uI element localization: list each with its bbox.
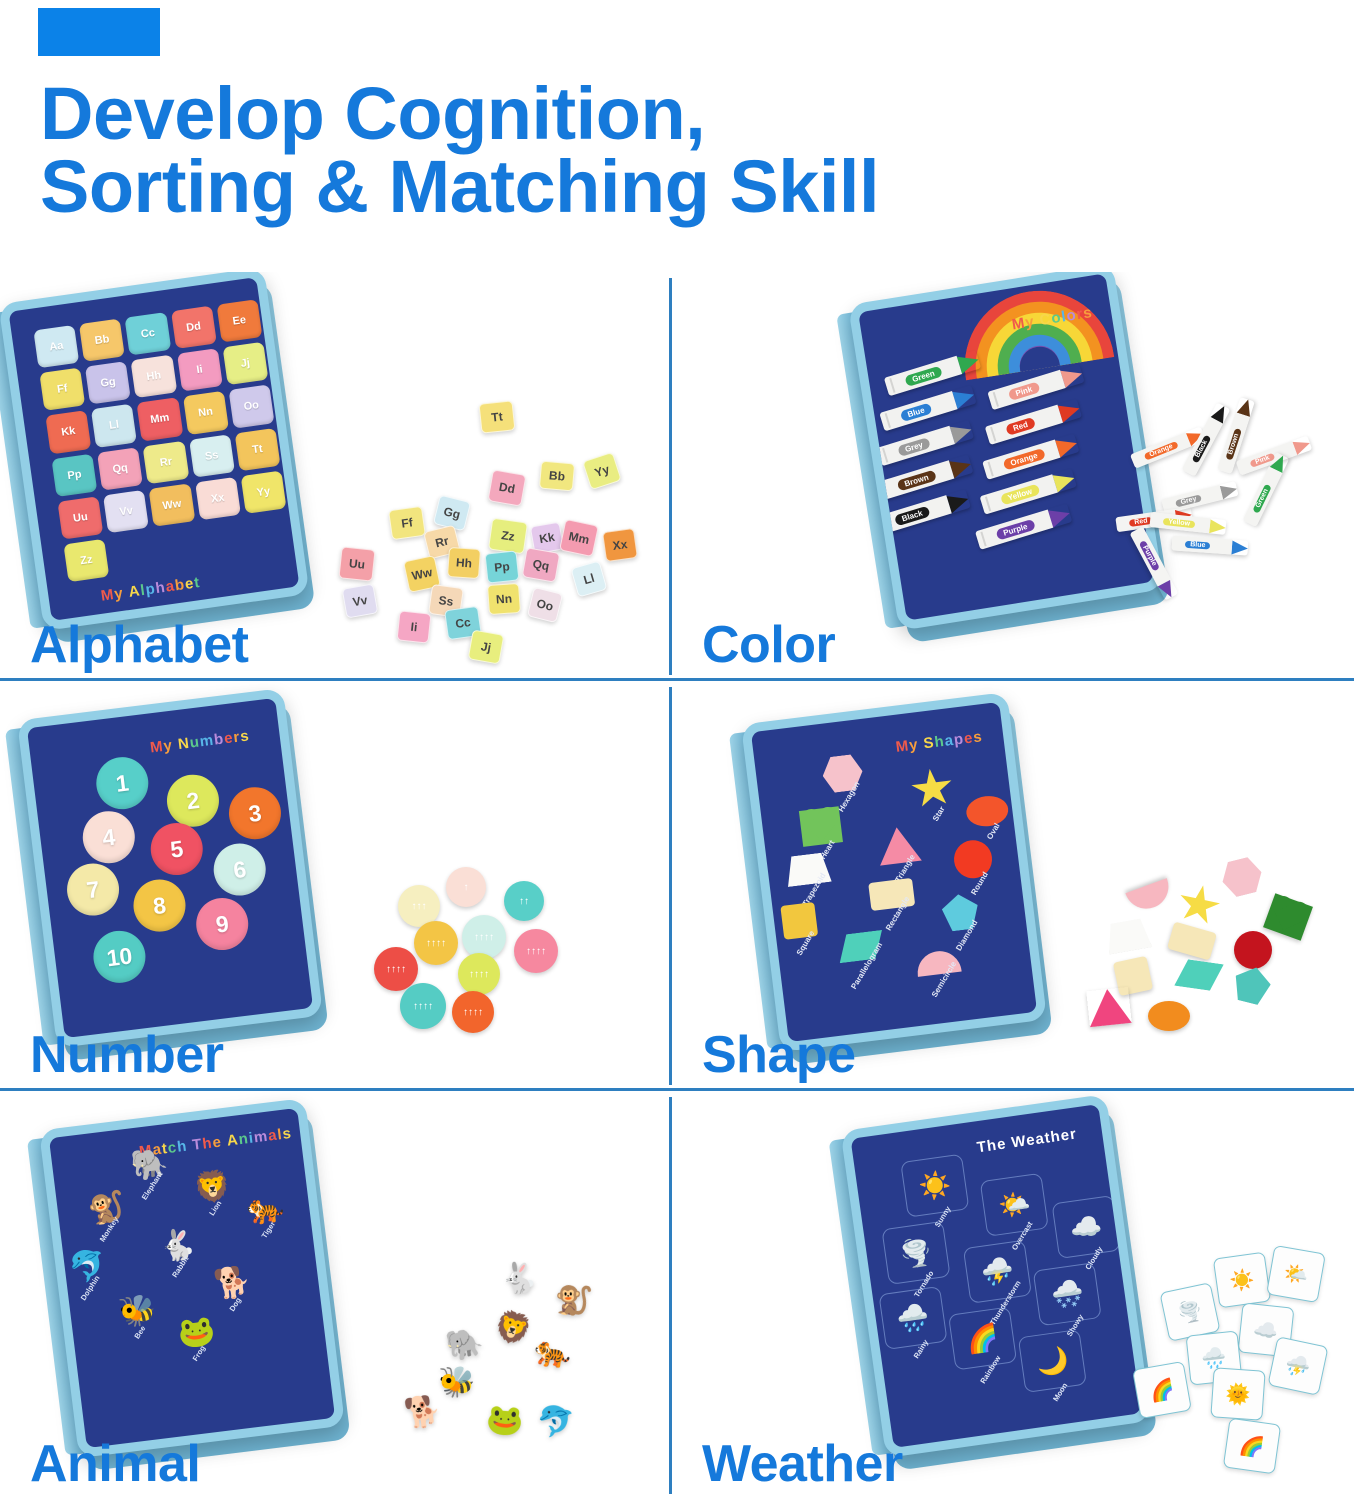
alphabet-tile[interactable]: Tt [234, 427, 280, 471]
number-token[interactable]: ↑↑↑↑ [414, 921, 458, 965]
alphabet-book-title: My Alphabet [100, 574, 202, 605]
loose-animal-frog[interactable]: 🐸 [485, 1402, 525, 1440]
weather-icon-overcast[interactable]: 🌤️ [996, 1187, 1032, 1222]
animal-slot: 🐸Frog [176, 1316, 218, 1360]
animal-slot: 🐒Monkey [86, 1192, 128, 1236]
book-cover: My Shapes HexagonStarHeartOvalTrapezoidT… [741, 692, 1047, 1052]
shape-slot: Diamond [940, 892, 980, 932]
weather-loose-card[interactable]: 🌈 [1223, 1418, 1281, 1475]
weather-icon-tornado[interactable]: 🌪️ [898, 1235, 934, 1270]
animal-slot: 🐕Dog [212, 1267, 254, 1311]
number-dot-7[interactable]: 7 [64, 861, 122, 919]
book-cover: AaBbCcDdEeFfGgHhIiJjKkLlMmNnOoPpQqRrSsTt… [0, 272, 310, 631]
alphabet-tile[interactable]: Ll [91, 404, 137, 448]
headline-line-1: Develop Cognition, [40, 78, 1220, 151]
weather-loose-card[interactable]: ⛈️ [1267, 1336, 1328, 1396]
shape-slot: Parallelogram [836, 930, 885, 963]
weather-loose-card[interactable]: 🌞 [1210, 1367, 1265, 1421]
alphabet-tile-grid: AaBbCcDdEeFfGgHhIiJjKkLlMmNnOoPpQqRrSsTt… [33, 299, 292, 582]
weather-loose-card[interactable]: ☀️ [1213, 1252, 1271, 1309]
category-label-alphabet: Alphabet [30, 615, 248, 675]
alphabet-tile[interactable]: Jj [222, 342, 268, 386]
weather-icon-cloudy[interactable]: ☁️ [1068, 1209, 1104, 1244]
alphabet-tile[interactable]: Zz [63, 539, 109, 583]
shape-slot-grid: HexagonStarHeartOvalTrapezoidTriangleRou… [751, 702, 999, 732]
alphabet-tile[interactable] [246, 513, 292, 557]
loose-shape-diam[interactable] [1230, 963, 1274, 1007]
weather-icon-moon[interactable]: 🌙 [1034, 1343, 1070, 1378]
alphabet-tile[interactable] [201, 519, 247, 563]
loose-shape-rect[interactable] [1167, 921, 1217, 960]
weather-icon-rainbow[interactable]: 🌈 [964, 1321, 1000, 1356]
headline-line-2: Sorting & Matching Skill [40, 151, 1220, 224]
number-dot-3[interactable]: 3 [226, 784, 284, 842]
loose-shape-trap[interactable] [1104, 917, 1153, 954]
panel-weather: The Weather ☀️Sunny🌤️Overcast☁️Cloudy🌪️T… [672, 1091, 1354, 1500]
alphabet-loose-tile[interactable]: Qq [522, 547, 561, 582]
animal-slot: 🐅Tiger [246, 1192, 288, 1236]
shape-slot: Triangle [876, 825, 922, 866]
alphabet-tile[interactable]: Ii [177, 348, 223, 392]
animal-loose-pieces[interactable]: 🐇🐒🦁🐘🐅🐝🐕🐸🐬 [390, 1255, 620, 1465]
number-book[interactable]: My Numbers 12345678910 [17, 688, 323, 1048]
color-loose-crayons[interactable]: OrangeBlackBrownPinkGreyGreenRedYellowBl… [1120, 410, 1340, 620]
loose-shape-oval[interactable] [1148, 1001, 1190, 1031]
number-token[interactable]: ↑ [446, 867, 486, 907]
panel-alphabet: AaBbCcDdEeFfGgHhIiJjKkLlMmNnOoPpQqRrSsTt… [0, 272, 672, 681]
number-token[interactable]: ↑↑↑↑ [514, 929, 558, 973]
loose-shape-circ[interactable] [1234, 931, 1272, 969]
number-dot-1[interactable]: 1 [93, 754, 151, 812]
weather-icon-rainy[interactable]: 🌧️ [895, 1300, 931, 1335]
shape-figure-heart[interactable] [799, 806, 843, 847]
loose-shape-semi[interactable] [1125, 878, 1174, 915]
feature-grid: AaBbCcDdEeFfGgHhIiJjKkLlMmNnOoPpQqRrSsTt… [0, 272, 1354, 1500]
alphabet-tile[interactable]: Dd [171, 306, 217, 350]
alphabet-loose-tile[interactable]: Nn [487, 583, 521, 615]
weather-slot-rainy[interactable]: 🌧️Rainy [878, 1286, 947, 1350]
header: Develop Cognition, Sorting & Matching Sk… [0, 0, 1354, 272]
shape-figure-star[interactable] [909, 766, 956, 811]
weather-slot-showy[interactable]: 🌨️Showy [1033, 1262, 1102, 1326]
loose-shape-para[interactable] [1174, 958, 1223, 992]
loose-shape-hex[interactable] [1218, 855, 1266, 900]
weather-label: Rainy [912, 1338, 930, 1360]
panel-number: My Numbers 12345678910 ↑↑↑↑↑↑↑↑↑↑↑↑↑↑↑↑↑… [0, 681, 672, 1091]
alphabet-tile[interactable]: Aa [33, 325, 79, 369]
alphabet-loose-tile[interactable]: Yy [582, 452, 622, 490]
book-cover: Match The Animals 🐘Elephant🦁Lion🐒Monkey🐅… [39, 1098, 345, 1458]
alphabet-loose-tile[interactable]: Jj [468, 629, 505, 664]
shape-book[interactable]: My Shapes HexagonStarHeartOvalTrapezoidT… [741, 692, 1047, 1052]
alphabet-tile[interactable]: Qq [97, 447, 143, 491]
animal-icon-dog[interactable]: 🐕 [212, 1267, 253, 1301]
loose-shape-star[interactable] [1174, 881, 1223, 929]
book-cover: My Colors GreenBlueGreyBrownBlackPinkRed… [848, 272, 1164, 631]
loose-shape-heart[interactable] [1263, 893, 1313, 941]
book-cover: The Weather ☀️Sunny🌤️Overcast☁️Cloudy🌪️T… [840, 1094, 1151, 1458]
alphabet-tile[interactable]: Ww [149, 483, 195, 527]
weather-slot-rainbow[interactable]: 🌈Rainbow [948, 1306, 1017, 1370]
number-dot-grid: 12345678910 [27, 698, 275, 728]
alphabet-loose-tile[interactable]: Pp [485, 550, 520, 583]
animal-icon-tiger[interactable]: 🐅 [246, 1192, 287, 1226]
number-token[interactable]: ↑↑↑↑ [374, 947, 418, 991]
animal-slot: 🐝Bee [117, 1295, 159, 1339]
animal-icon-rabbit[interactable]: 🐇 [157, 1229, 198, 1263]
shape-figure-rectangle[interactable] [868, 878, 915, 911]
category-label-number: Number [30, 1025, 223, 1085]
shape-label: Star [931, 805, 947, 823]
weather-book[interactable]: The Weather ☀️Sunny🌤️Overcast☁️Cloudy🌪️T… [840, 1094, 1151, 1458]
animal-slot: 🐬Dolphin [67, 1250, 109, 1294]
alphabet-tile[interactable]: Hh [131, 355, 177, 399]
loose-crayon-yellow[interactable]: Yellow [1149, 512, 1226, 535]
alphabet-loose-tile[interactable]: Oo [527, 587, 563, 623]
shape-slot: Oval [965, 794, 1010, 829]
loose-animal-lion[interactable]: 🦁 [490, 1306, 536, 1351]
shape-figure-trapezoid[interactable] [784, 852, 831, 887]
weather-loose-card[interactable]: 🌈 [1132, 1361, 1192, 1419]
animal-icon-elephant[interactable]: 🐘 [129, 1148, 170, 1182]
alphabet-tile[interactable]: Cc [125, 312, 171, 356]
accent-square [38, 8, 160, 56]
crayon-tip [1209, 519, 1226, 535]
animal-book[interactable]: Match The Animals 🐘Elephant🦁Lion🐒Monkey🐅… [39, 1098, 345, 1458]
alphabet-tile[interactable]: Uu [57, 496, 103, 540]
loose-crayon-purple[interactable]: Purple [1130, 526, 1179, 600]
alphabet-tile[interactable]: Xx [195, 477, 241, 521]
animal-slot: 🐘Elephant [129, 1148, 171, 1192]
number-token[interactable]: ↑↑↑↑ [400, 983, 446, 1029]
panel-animal: Match The Animals 🐘Elephant🦁Lion🐒Monkey🐅… [0, 1091, 672, 1500]
alphabet-tile[interactable]: Rr [143, 440, 189, 484]
shape-figure-oval[interactable] [965, 794, 1010, 829]
alphabet-tile[interactable]: Kk [45, 410, 91, 454]
loose-animal-elephant[interactable]: 🐘 [443, 1323, 487, 1365]
animal-icon-bee[interactable]: 🐝 [117, 1295, 158, 1329]
weather-icon-showy[interactable]: 🌨️ [1049, 1277, 1085, 1312]
weather-slot-thunderstorm[interactable]: ⛈️Thunderstorm [963, 1240, 1032, 1304]
category-label-weather: Weather [702, 1434, 903, 1494]
weather-loose-card[interactable]: 🌤️ [1266, 1245, 1326, 1303]
alphabet-tile[interactable]: Oo [228, 385, 274, 429]
alphabet-tile[interactable] [109, 532, 155, 576]
number-token[interactable]: ↑↑ [504, 881, 544, 921]
weather-label: Moon [1051, 1381, 1069, 1403]
weather-slot-cloudy[interactable]: ☁️Cloudy [1051, 1195, 1120, 1259]
alphabet-tile[interactable] [155, 526, 201, 570]
alphabet-loose-tile[interactable]: Bb [539, 461, 575, 492]
weather-slot-moon[interactable]: 🌙Moon [1018, 1329, 1087, 1393]
alphabet-loose-tile[interactable]: Uu [338, 546, 375, 581]
shape-slot: Star [909, 766, 956, 811]
category-label-color: Color [702, 615, 835, 675]
shape-slot: Round [952, 838, 994, 880]
alphabet-tile[interactable]: Ss [189, 434, 235, 478]
alphabet-tile[interactable]: Mm [137, 398, 183, 442]
alphabet-loose-tile[interactable]: Zz [488, 518, 528, 555]
loose-shape-tri[interactable] [1086, 987, 1132, 1027]
weather-slot-sunny[interactable]: ☀️Sunny [900, 1154, 969, 1218]
shape-slot: Trapezoid [784, 852, 831, 887]
alphabet-loose-tiles[interactable]: TtBbYyDdFfGgRrZzKkMmXxUuWwHhPpQqLlVvSsNn… [318, 400, 648, 670]
number-dot-5[interactable]: 5 [148, 820, 206, 878]
alphabet-tile[interactable]: Ee [216, 299, 262, 343]
shape-loose-pieces[interactable] [1082, 849, 1312, 1059]
alphabet-loose-tile[interactable]: Ii [397, 610, 432, 643]
animal-slot: 🦁Lion [192, 1171, 234, 1215]
animal-icon-frog[interactable]: 🐸 [176, 1316, 217, 1350]
number-dot-6[interactable]: 6 [211, 841, 269, 899]
loose-animal-dog[interactable]: 🐕 [402, 1393, 443, 1432]
alphabet-loose-tile[interactable]: Xx [602, 528, 638, 562]
animal-slot: 🐇Rabbit [157, 1229, 199, 1273]
alphabet-tile[interactable]: Ff [39, 368, 85, 412]
shape-slot: Hexagon [821, 753, 865, 794]
number-token[interactable]: ↑↑↑↑ [462, 915, 506, 959]
weather-book-title: The Weather [976, 1125, 1078, 1156]
weather-slot-tornado[interactable]: 🌪️Tornado [881, 1221, 950, 1285]
loose-animal-bee[interactable]: 🐝 [438, 1365, 475, 1400]
shape-slot: Square [780, 902, 818, 940]
number-loose-tokens[interactable]: ↑↑↑↑↑↑↑↑↑↑↑↑↑↑↑↑↑↑↑↑↑↑↑↑↑↑↑↑↑↑↑↑↑↑ [358, 859, 578, 1059]
panel-color: My Colors GreenBlueGreyBrownBlackPinkRed… [672, 272, 1354, 681]
alphabet-book[interactable]: AaBbCcDdEeFfGgHhIiJjKkLlMmNnOoPpQqRrSsTt… [0, 272, 310, 631]
number-dot-2[interactable]: 2 [164, 772, 222, 830]
alphabet-loose-tile[interactable]: Ff [388, 506, 426, 540]
number-dot-10[interactable]: 10 [90, 928, 148, 986]
shape-slot: Rectangle [868, 878, 915, 911]
shape-slot: Heart [799, 806, 843, 847]
weather-loose-cards[interactable]: ☀️🌤️🌪️☁️🌧️⛈️🌈🌞🌈 [1122, 1245, 1352, 1485]
book-cover: My Numbers 12345678910 [17, 688, 323, 1048]
animal-icon-monkey[interactable]: 🐒 [86, 1192, 127, 1226]
alphabet-loose-tile[interactable]: Vv [342, 583, 379, 618]
number-token[interactable]: ↑↑↑↑ [452, 991, 494, 1033]
number-dot-8[interactable]: 8 [131, 877, 189, 935]
panel-shape: My Shapes HexagonStarHeartOvalTrapezoidT… [672, 681, 1354, 1091]
animal-icon-dolphin[interactable]: 🐬 [67, 1250, 108, 1284]
number-dot-4[interactable]: 4 [80, 808, 138, 866]
shape-book-title: My Shapes [895, 728, 984, 756]
category-label-animal: Animal [30, 1434, 200, 1494]
loose-animal-dolphin[interactable]: 🐬 [533, 1402, 576, 1443]
loose-animal-monkey[interactable]: 🐒 [551, 1280, 594, 1321]
alphabet-loose-tile[interactable]: Hh [447, 547, 481, 579]
number-book-title: My Numbers [149, 727, 250, 756]
color-book[interactable]: My Colors GreenBlueGreyBrownBlackPinkRed… [848, 272, 1164, 631]
alphabet-loose-tile[interactable]: Dd [487, 469, 526, 506]
weather-slot-overcast[interactable]: 🌤️Overcast [980, 1173, 1049, 1237]
number-dot-9[interactable]: 9 [193, 895, 251, 953]
number-token[interactable]: ↑↑↑↑ [458, 953, 500, 995]
loose-animal-tiger[interactable]: 🐅 [532, 1333, 573, 1372]
loose-crayon-blue[interactable]: Blue [1172, 535, 1249, 555]
alphabet-tile[interactable]: Vv [103, 489, 149, 533]
shape-slot: Semicircle [915, 949, 961, 977]
alphabet-tile[interactable]: Bb [79, 318, 125, 362]
weather-icon-sunny[interactable]: ☀️ [917, 1168, 953, 1203]
alphabet-tile[interactable]: Yy [240, 470, 286, 514]
alphabet-loose-tile[interactable]: Tt [479, 400, 516, 433]
page-title: Develop Cognition, Sorting & Matching Sk… [40, 78, 1220, 223]
animal-icon-lion[interactable]: 🦁 [192, 1171, 233, 1205]
alphabet-tile[interactable]: Nn [183, 391, 229, 435]
alphabet-tile[interactable]: Pp [51, 453, 97, 497]
alphabet-tile[interactable]: Gg [85, 361, 131, 405]
crayon-tip [1231, 540, 1248, 555]
alphabet-loose-tile[interactable]: Ll [570, 560, 607, 597]
weather-label: Rainbow [978, 1354, 1002, 1385]
alphabet-loose-tile[interactable]: Mm [559, 519, 599, 557]
loose-animal-rabbit[interactable]: 🐇 [498, 1259, 540, 1299]
category-label-shape: Shape [702, 1025, 856, 1085]
